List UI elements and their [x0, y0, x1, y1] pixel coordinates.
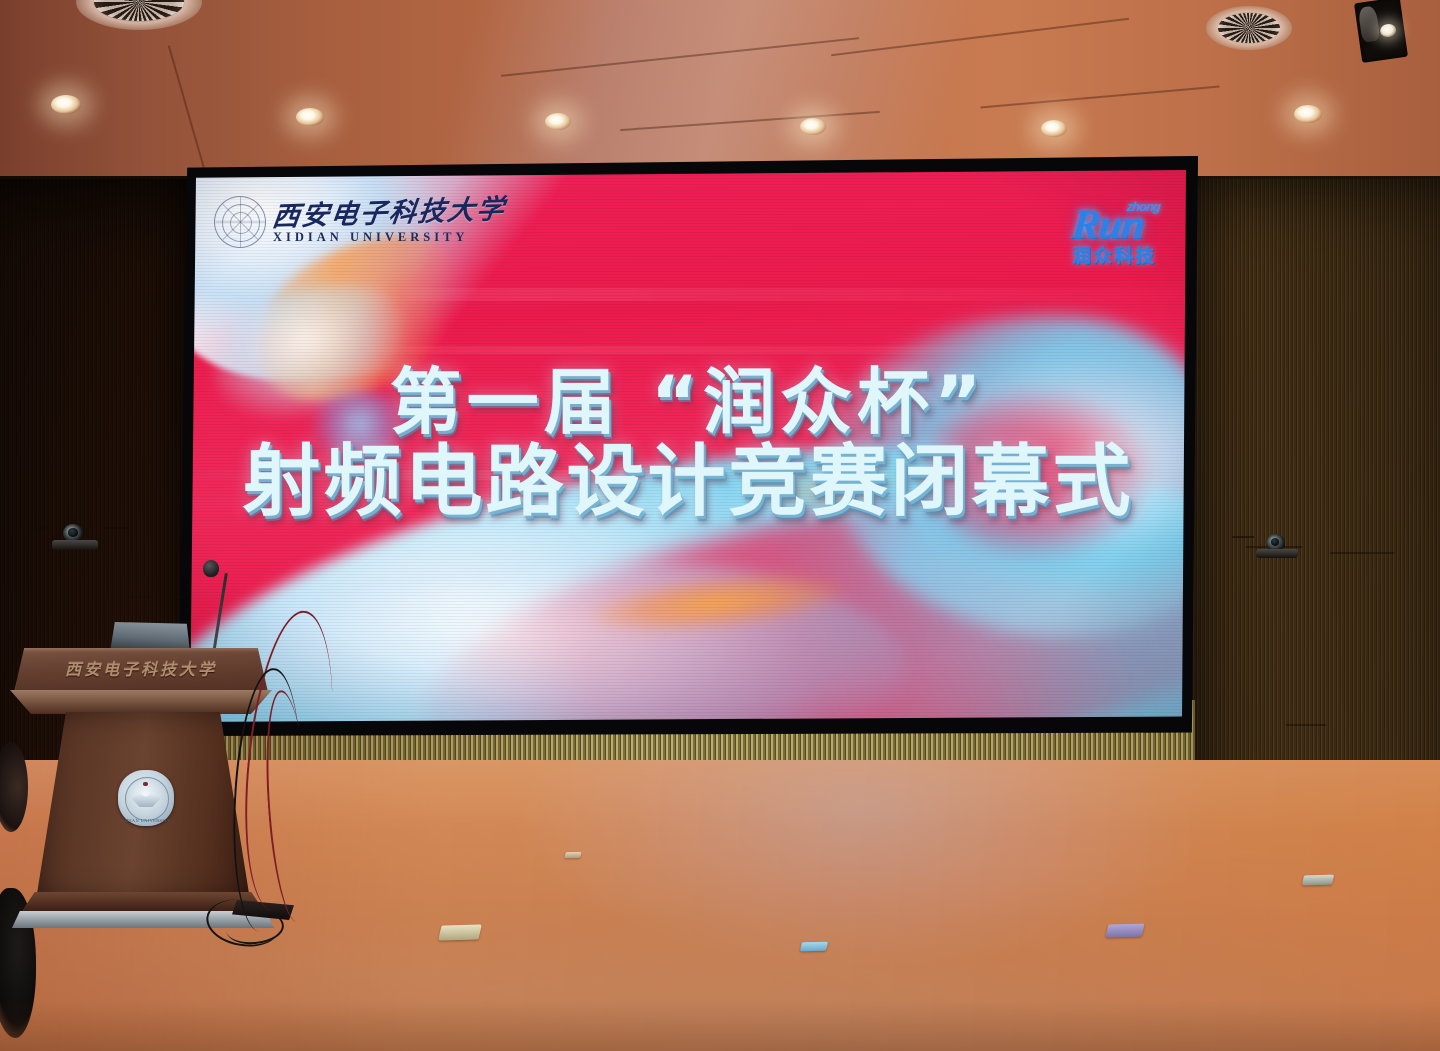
headline-line-2: 射频电路设计竞赛闭幕式 [190, 443, 1186, 523]
wall-seam [28, 527, 50, 529]
sponsor-superscript-text: zhong [1126, 200, 1161, 213]
wall-seam [1330, 552, 1394, 554]
wall-seam [1188, 176, 1440, 179]
downlight-right [1294, 105, 1322, 123]
downlight-center-left [296, 108, 324, 126]
emblem-label-en: XIDIAN UNIVERSITY [118, 818, 174, 823]
auditorium-photo: 西安电子科技大学 XIDIAN UNIVERSITY Runzhong 润众科技… [0, 0, 1440, 1051]
wall-seam [1286, 724, 1326, 726]
podium-ledge [10, 690, 272, 714]
downlight-center-right [800, 118, 826, 135]
university-logo: 西安电子科技大学 XIDIAN UNIVERSITY [214, 196, 505, 248]
slide-headline: 第一届 “润众杯” 射频电路设计竞赛闭幕式 [190, 366, 1186, 523]
floor-outlet-plate [564, 852, 581, 858]
university-name-cn: 西安电子科技大学 [271, 196, 507, 231]
ceiling-air-diffuser-right [1206, 6, 1292, 50]
university-logo-text: 西安电子科技大学 XIDIAN UNIVERSITY [273, 200, 505, 244]
track-light-head [1357, 5, 1380, 42]
camera-mount-bar [52, 540, 98, 550]
downlight-right-inner [1041, 120, 1067, 137]
headline-line-1: 第一届 “润众杯” [190, 366, 1186, 439]
floor-foreground-shading [0, 1000, 1440, 1051]
led-screen-display[interactable]: 西安电子科技大学 XIDIAN UNIVERSITY Runzhong 润众科技… [190, 170, 1186, 722]
presenter-laptop[interactable] [110, 622, 190, 652]
track-light-lamp [1379, 23, 1397, 38]
university-name-en: XIDIAN UNIVERSITY [273, 231, 505, 244]
sponsor-name-cn: 润众科技 [1072, 247, 1156, 266]
floor-outlet-plate [800, 942, 828, 952]
floor-outlet-plate [1105, 924, 1144, 938]
sponsor-mark-text: Runzhong [1070, 204, 1158, 246]
floor-outlet-plate [1302, 875, 1334, 886]
emblem-center-dot [143, 782, 147, 786]
ceiling-track-light [1354, 0, 1408, 63]
downlight-center [545, 113, 571, 130]
microphone-head-icon [203, 560, 219, 577]
camera-mount-bar [1256, 549, 1298, 558]
sponsor-logo: Runzhong 润众科技 [1072, 204, 1156, 266]
podium-engraving-text: 西安电子科技大学 [14, 656, 268, 680]
podium-emblem: XIDIAN UNIVERSITY [118, 770, 174, 826]
wall-camera-left [52, 524, 98, 550]
downlight-left [51, 95, 81, 114]
floor-outlet-plate [438, 924, 482, 940]
xidian-seal-icon [214, 196, 266, 248]
wall-seam [1232, 536, 1254, 538]
led-screen-bezel: 西安电子科技大学 XIDIAN UNIVERSITY Runzhong 润众科技… [178, 156, 1198, 736]
wall-seam [100, 527, 130, 529]
wall-seam [0, 176, 196, 179]
wall-camera-right [1256, 534, 1298, 558]
